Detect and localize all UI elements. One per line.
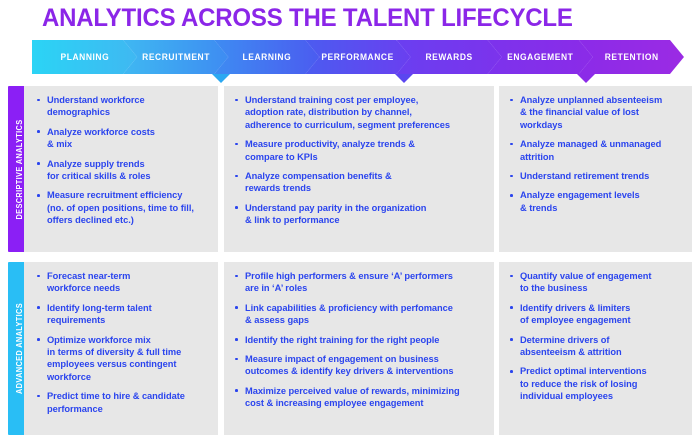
bullet-dot-icon <box>235 338 238 341</box>
stage-label: RECRUITMENT <box>142 52 210 62</box>
bullet-dot-icon <box>235 275 238 278</box>
infographic-root: ANALYTICS ACROSS THE TALENT LIFECYCLE PL… <box>0 0 700 445</box>
bullet-item: Understand retirement trends <box>509 170 686 182</box>
stage-label: PLANNING <box>60 52 109 62</box>
bullet-dot-icon <box>510 194 513 197</box>
bullet-dot-icon <box>37 162 40 165</box>
bullet-item: Analyze unplanned absenteeism & the fina… <box>509 94 686 131</box>
bullet-dot-icon <box>235 358 238 361</box>
bullet-text: Identify long-term talent requirements <box>47 302 212 327</box>
bullet-dot-icon <box>37 395 40 398</box>
row-tab-label: DESCRIPTIVE ANALYTICS <box>15 119 24 219</box>
bullet-list: Understand training cost per employee, a… <box>234 94 488 227</box>
bullet-dot-icon <box>510 306 513 309</box>
bullet-dot-icon <box>510 143 513 146</box>
bullet-text: Analyze engagement levels & trends <box>520 189 686 214</box>
stage-label: PERFORMANCE <box>322 52 394 62</box>
talent-lifecycle-ribbon: PLANNINGRECRUITMENTLEARNINGPERFORMANCERE… <box>32 40 684 74</box>
panel-advanced-planning-recruitment: Forecast near-term workforce needsIdenti… <box>24 262 218 435</box>
bullet-dot-icon <box>235 99 238 102</box>
bullet-item: Maximize perceived value of rewards, min… <box>234 385 488 410</box>
bullet-text: Analyze managed & unmanaged attrition <box>520 138 686 163</box>
bullet-dot-icon <box>37 194 40 197</box>
bullet-dot-icon <box>235 306 238 309</box>
panel-descriptive-engagement-retention: Analyze unplanned absenteeism & the fina… <box>499 86 692 252</box>
lifecycle-stage-performance[interactable]: PERFORMANCE <box>305 40 410 74</box>
bullet-list: Analyze unplanned absenteeism & the fina… <box>509 94 686 214</box>
bullet-text: Measure productivity, analyze trends & c… <box>245 138 488 163</box>
panel-descriptive-planning-recruitment: Understand workforce demographicsAnalyze… <box>24 86 218 252</box>
stage-pointer-4 <box>395 74 413 83</box>
stage-pointer-2 <box>212 74 230 83</box>
bullet-item: Measure impact of engagement on business… <box>234 353 488 378</box>
bullet-text: Analyze unplanned absenteeism & the fina… <box>520 94 686 131</box>
bullet-item: Analyze supply trends for critical skill… <box>36 158 212 183</box>
row-tab-label: ADVANCED ANALYTICS <box>15 303 24 394</box>
lifecycle-stage-rewards[interactable]: REWARDS <box>397 40 502 74</box>
bullet-dot-icon <box>235 389 238 392</box>
bullet-text: Quantify value of engagement to the busi… <box>520 270 686 295</box>
bullet-item: Understand pay parity in the organizatio… <box>234 202 488 227</box>
page-title: ANALYTICS ACROSS THE TALENT LIFECYCLE <box>42 4 637 32</box>
bullet-dot-icon <box>37 130 40 133</box>
bullet-text: Identify drivers & limiters of employee … <box>520 302 686 327</box>
stage-label: ENGAGEMENT <box>507 52 573 62</box>
bullet-dot-icon <box>37 306 40 309</box>
bullet-text: Maximize perceived value of rewards, min… <box>245 385 488 410</box>
bullet-text: Understand retirement trends <box>520 170 686 182</box>
stage-label: LEARNING <box>242 52 291 62</box>
bullet-item: Identify long-term talent requirements <box>36 302 212 327</box>
stage-label: RETENTION <box>604 52 658 62</box>
bullet-item: Forecast near-term workforce needs <box>36 270 212 295</box>
bullet-dot-icon <box>37 275 40 278</box>
bullet-text: Determine drivers of absenteeism & attri… <box>520 334 686 359</box>
bullet-item: Predict time to hire & candidate perform… <box>36 390 212 415</box>
bullet-text: Optimize workforce mix in terms of diver… <box>47 334 212 384</box>
lifecycle-stage-engagement[interactable]: ENGAGEMENT <box>488 40 593 74</box>
bullet-text: Forecast near-term workforce needs <box>47 270 212 295</box>
bullet-dot-icon <box>510 370 513 373</box>
bullet-item: Measure recruitment efficiency (no. of o… <box>36 189 212 226</box>
bullet-dot-icon <box>235 175 238 178</box>
lifecycle-stage-learning[interactable]: LEARNING <box>214 40 319 74</box>
bullet-dot-icon <box>37 99 40 102</box>
bullet-list: Quantify value of engagement to the busi… <box>509 270 686 403</box>
bullet-text: Analyze workforce costs & mix <box>47 126 212 151</box>
bullet-item: Quantify value of engagement to the busi… <box>509 270 686 295</box>
bullet-item: Analyze workforce costs & mix <box>36 126 212 151</box>
bullet-list: Forecast near-term workforce needsIdenti… <box>36 270 212 415</box>
lifecycle-stage-retention[interactable]: RETENTION <box>579 40 684 74</box>
bullet-dot-icon <box>235 206 238 209</box>
bullet-item: Link capabilities & proficiency with per… <box>234 302 488 327</box>
bullet-dot-icon <box>510 99 513 102</box>
bullet-text: Measure impact of engagement on business… <box>245 353 488 378</box>
bullet-dot-icon <box>37 338 40 341</box>
bullet-item: Analyze managed & unmanaged attrition <box>509 138 686 163</box>
bullet-item: Understand workforce demographics <box>36 94 212 119</box>
bullet-text: Profile high performers & ensure ‘A’ per… <box>245 270 488 295</box>
analytics-row-advanced: ADVANCED ANALYTICSForecast near-term wor… <box>8 262 692 435</box>
bullet-dot-icon <box>510 175 513 178</box>
bullet-item: Profile high performers & ensure ‘A’ per… <box>234 270 488 295</box>
analytics-row-descriptive: DESCRIPTIVE ANALYTICSUnderstand workforc… <box>8 86 692 252</box>
bullet-item: Identify the right training for the righ… <box>234 334 488 346</box>
bullet-item: Optimize workforce mix in terms of diver… <box>36 334 212 384</box>
bullet-item: Analyze compensation benefits & rewards … <box>234 170 488 195</box>
bullet-text: Understand workforce demographics <box>47 94 212 119</box>
bullet-item: Analyze engagement levels & trends <box>509 189 686 214</box>
bullet-text: Predict optimal interventions to reduce … <box>520 365 686 402</box>
panel-advanced-engagement-retention: Quantify value of engagement to the busi… <box>499 262 692 435</box>
bullet-text: Understand training cost per employee, a… <box>245 94 488 131</box>
lifecycle-stage-recruitment[interactable]: RECRUITMENT <box>123 40 228 74</box>
bullet-dot-icon <box>235 143 238 146</box>
panel-advanced-learning-performance-rewards: Profile high performers & ensure ‘A’ per… <box>224 262 494 435</box>
bullet-item: Determine drivers of absenteeism & attri… <box>509 334 686 359</box>
bullet-item: Identify drivers & limiters of employee … <box>509 302 686 327</box>
bullet-text: Analyze supply trends for critical skill… <box>47 158 212 183</box>
bullet-text: Analyze compensation benefits & rewards … <box>245 170 488 195</box>
bullet-text: Identify the right training for the righ… <box>245 334 488 346</box>
bullet-text: Measure recruitment efficiency (no. of o… <box>47 189 212 226</box>
lifecycle-stage-planning[interactable]: PLANNING <box>32 40 137 74</box>
bullet-list: Profile high performers & ensure ‘A’ per… <box>234 270 488 410</box>
bullet-dot-icon <box>510 275 513 278</box>
panel-descriptive-learning-performance-rewards: Understand training cost per employee, a… <box>224 86 494 252</box>
bullet-item: Understand training cost per employee, a… <box>234 94 488 131</box>
bullet-item: Measure productivity, analyze trends & c… <box>234 138 488 163</box>
bullet-list: Understand workforce demographicsAnalyze… <box>36 94 212 227</box>
stage-pointer-6 <box>577 74 595 83</box>
bullet-dot-icon <box>510 338 513 341</box>
bullet-text: Understand pay parity in the organizatio… <box>245 202 488 227</box>
bullet-item: Predict optimal interventions to reduce … <box>509 365 686 402</box>
bullet-text: Predict time to hire & candidate perform… <box>47 390 212 415</box>
bullet-text: Link capabilities & proficiency with per… <box>245 302 488 327</box>
stage-label: REWARDS <box>426 52 473 62</box>
